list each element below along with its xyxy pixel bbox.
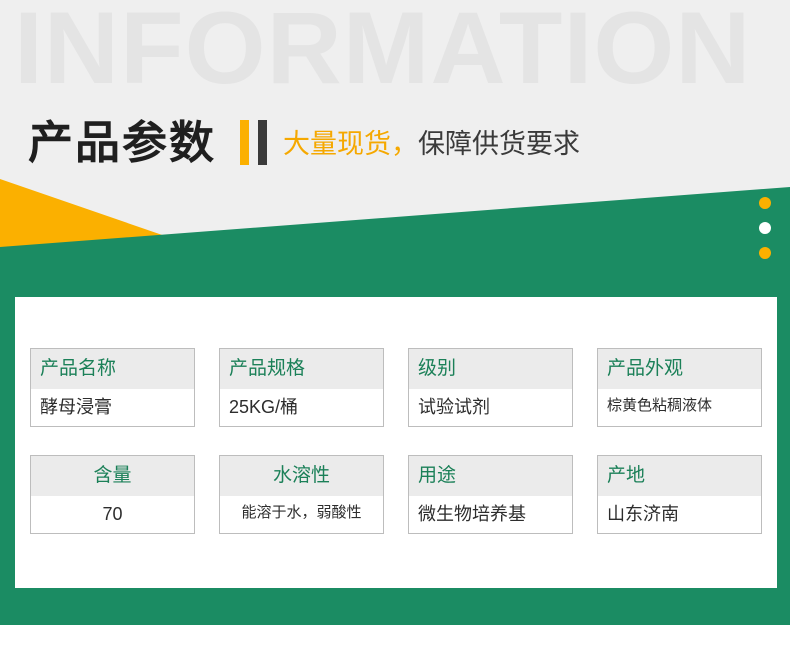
spec-value: 微生物培养基 bbox=[409, 496, 572, 533]
divider-bar-accent bbox=[240, 120, 249, 165]
spec-label: 产品外观 bbox=[598, 349, 761, 389]
spec-cell-product-name: 产品名称 酵母浸膏 bbox=[30, 348, 195, 427]
spec-value: 棕黄色粘稠液体 bbox=[598, 389, 761, 423]
spec-cell-content: 含量 70 bbox=[30, 455, 195, 534]
spec-label: 产品名称 bbox=[31, 349, 194, 389]
spec-label: 级别 bbox=[409, 349, 572, 389]
pagination-dots[interactable] bbox=[759, 197, 773, 272]
spec-grid: 产品名称 酵母浸膏 产品规格 25KG/桶 级别 试验试剂 产品外观 棕黄色粘稠… bbox=[30, 348, 762, 534]
pagination-dot-3[interactable] bbox=[759, 247, 771, 259]
spec-value: 25KG/桶 bbox=[220, 389, 383, 426]
spec-value: 能溶于水，弱酸性 bbox=[220, 496, 383, 530]
spec-cell-usage: 用途 微生物培养基 bbox=[408, 455, 573, 534]
subtitle-dark-text: 保障供货要求 bbox=[418, 129, 580, 159]
headline: 产品参数 大量现货，保障供货要求 bbox=[28, 114, 580, 170]
spec-panel: 产品名称 酵母浸膏 产品规格 25KG/桶 级别 试验试剂 产品外观 棕黄色粘稠… bbox=[15, 297, 777, 588]
banner: INFORMATION 产品参数 大量现货，保障供货要求 bbox=[0, 0, 790, 260]
watermark-text: INFORMATION bbox=[14, 0, 790, 110]
product-parameters-page: INFORMATION 产品参数 大量现货，保障供货要求 产品名称 bbox=[0, 0, 790, 653]
pagination-dot-1[interactable] bbox=[759, 197, 771, 209]
spec-label: 产品规格 bbox=[220, 349, 383, 389]
subtitle-accent-text: 大量现货， bbox=[283, 129, 418, 159]
spec-label: 含量 bbox=[31, 456, 194, 496]
divider-bars bbox=[240, 119, 267, 165]
spec-cell-product-spec: 产品规格 25KG/桶 bbox=[219, 348, 384, 427]
divider-bar-dark bbox=[258, 120, 267, 165]
pagination-dot-2[interactable] bbox=[759, 222, 771, 234]
spec-label: 水溶性 bbox=[220, 456, 383, 496]
subtitle: 大量现货，保障供货要求 bbox=[283, 131, 580, 158]
spec-cell-solubility: 水溶性 能溶于水，弱酸性 bbox=[219, 455, 384, 534]
page-title: 产品参数 bbox=[28, 120, 216, 165]
spec-row-2: 含量 70 水溶性 能溶于水，弱酸性 用途 微生物培养基 产地 山东济南 bbox=[30, 455, 762, 534]
spec-value: 70 bbox=[31, 496, 194, 533]
spec-cell-origin: 产地 山东济南 bbox=[597, 455, 762, 534]
spec-label: 用途 bbox=[409, 456, 572, 496]
spec-cell-appearance: 产品外观 棕黄色粘稠液体 bbox=[597, 348, 762, 427]
spec-cell-grade: 级别 试验试剂 bbox=[408, 348, 573, 427]
spec-value: 山东济南 bbox=[598, 496, 761, 533]
spec-value: 酵母浸膏 bbox=[31, 389, 194, 426]
spec-row-1: 产品名称 酵母浸膏 产品规格 25KG/桶 级别 试验试剂 产品外观 棕黄色粘稠… bbox=[30, 348, 762, 427]
spec-value: 试验试剂 bbox=[409, 389, 572, 426]
spec-label: 产地 bbox=[598, 456, 761, 496]
